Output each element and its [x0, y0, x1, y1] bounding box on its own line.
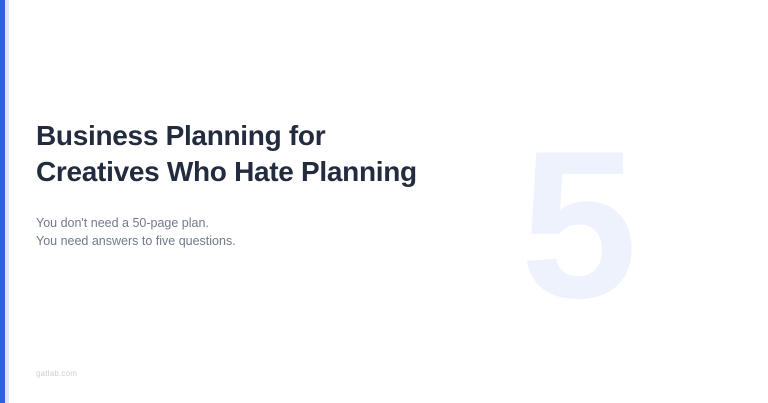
page-subtitle-line-2: You need answers to five questions. — [36, 232, 506, 250]
page-title-line-2: Creatives Who Hate Planning — [36, 154, 506, 190]
page-title: Business Planning for Creatives Who Hate… — [36, 118, 506, 190]
page-subtitle: You don't need a 50-page plan. You need … — [36, 190, 506, 250]
slide-content: Business Planning for Creatives Who Hate… — [36, 118, 506, 250]
page-title-line-1: Business Planning for — [36, 118, 506, 154]
footer-source-label: gatlab.com — [36, 368, 77, 380]
watermark-number: 5 — [498, 120, 658, 330]
page-subtitle-line-1: You don't need a 50-page plan. — [36, 214, 506, 232]
slide-canvas: 5 Business Planning for Creatives Who Ha… — [0, 0, 768, 403]
left-accent-bar-glow — [5, 0, 9, 403]
